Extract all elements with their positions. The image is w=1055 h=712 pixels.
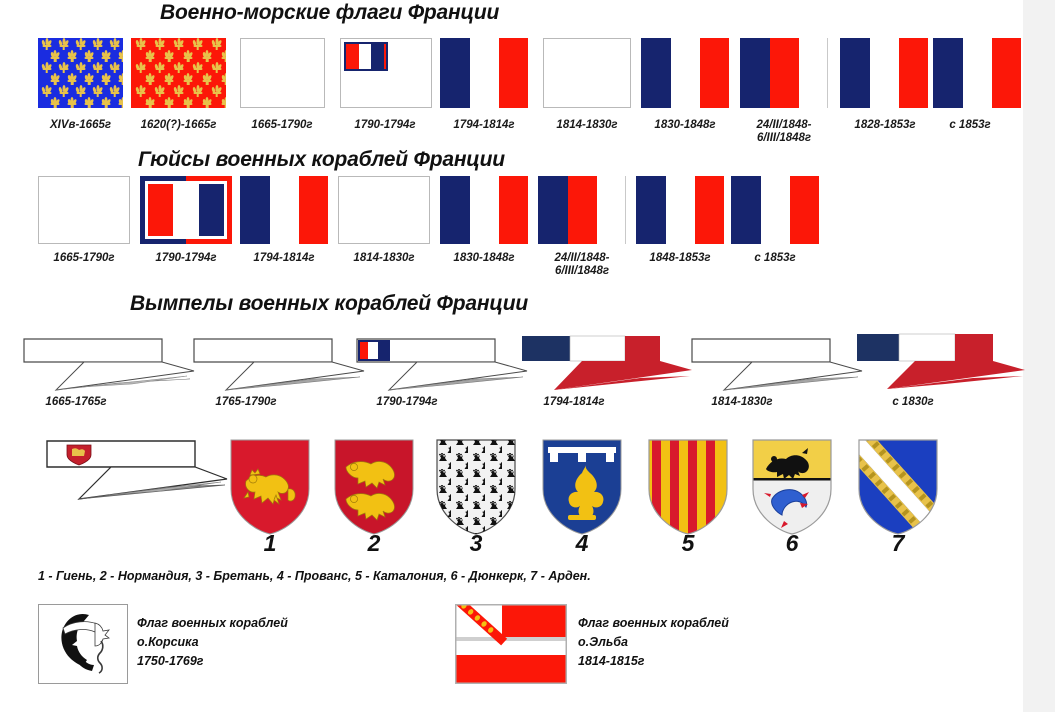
flag-label-ensign-6: 1814-1830г bbox=[533, 119, 641, 132]
fleur-de-lis-icon bbox=[102, 97, 111, 108]
pennant-6 bbox=[855, 330, 1035, 392]
pennant-label-5: 1814-1830г bbox=[688, 396, 796, 409]
fleur-de-lis-icon bbox=[119, 97, 124, 108]
fleur-de-lis-pattern-icon bbox=[131, 38, 226, 108]
fleur-de-lis-icon bbox=[222, 73, 227, 84]
elba-line-3: 1814-1815г bbox=[578, 652, 729, 671]
shield-number-3: 3 bbox=[434, 530, 518, 557]
pennant-label-3: 1790-1794г bbox=[353, 396, 461, 409]
fleur-de-lis-icon bbox=[93, 62, 102, 73]
fleur-de-lis-icon bbox=[51, 50, 60, 61]
flag-corsica bbox=[38, 604, 128, 684]
fleur-de-lis-icon bbox=[59, 38, 68, 49]
fleur-de-lis-icon bbox=[85, 73, 94, 84]
shield-number-6: 6 bbox=[750, 530, 834, 557]
shield-number-5: 5 bbox=[646, 530, 730, 557]
fleur-de-lis-icon bbox=[76, 62, 85, 73]
flag-label-ensign-2: 1620(?)-1665г bbox=[121, 119, 236, 132]
shield-6-dunkirk bbox=[750, 437, 834, 537]
shield-1-guyenne bbox=[228, 437, 312, 537]
flag-label-jack-7: 1848-1853г bbox=[626, 252, 734, 265]
shield-7-ardennes bbox=[856, 437, 940, 537]
flag-label-ensign-5: 1794-1814г bbox=[429, 119, 539, 132]
fleur-de-lis-icon bbox=[68, 97, 77, 108]
flag-label-jack-4: 1814-1830г bbox=[330, 252, 438, 265]
flag-label-jack-2: 1790-1794г bbox=[132, 252, 240, 265]
fleur-de-lis-icon bbox=[85, 50, 94, 61]
flag-jack-2 bbox=[140, 176, 232, 244]
fleur-de-lis-icon bbox=[110, 62, 119, 73]
flag-ensign-10 bbox=[933, 38, 1021, 108]
fleur-de-lis-icon bbox=[51, 73, 60, 84]
corsica-line-3: 1750-1769г bbox=[137, 652, 288, 671]
elba-caption: Флаг военных кораблей о.Эльба 1814-1815г bbox=[578, 614, 729, 671]
flag-label-jack-8: с 1853г bbox=[735, 252, 815, 265]
pennant-3 bbox=[355, 335, 530, 393]
pennant-5 bbox=[690, 335, 865, 393]
flag-label-ensign-3: 1665-1790г bbox=[228, 119, 336, 132]
shield-4-provence bbox=[540, 437, 624, 537]
fleur-de-lis-icon bbox=[110, 85, 119, 96]
corsica-line-2: о.Корсика bbox=[137, 633, 288, 652]
flag-label-ensign-8: 24/II/1848- 6/III/1848г bbox=[730, 119, 838, 145]
flag-ensign-5 bbox=[440, 38, 528, 108]
shield-2-normandy bbox=[332, 437, 416, 537]
fleur-de-lis-icon bbox=[146, 50, 155, 61]
section-title-pennants: Вымпелы военных кораблей Франции bbox=[130, 292, 528, 316]
pennant-1 bbox=[22, 335, 197, 393]
flag-ensign-7 bbox=[641, 38, 729, 108]
fleur-de-lis-icon bbox=[110, 38, 119, 49]
flag-ensign-9 bbox=[840, 38, 928, 108]
fleur-de-lis-icon bbox=[119, 50, 124, 61]
fleur-de-lis-icon bbox=[119, 73, 124, 84]
flag-elba bbox=[455, 604, 567, 684]
flag-ensign-8 bbox=[740, 38, 828, 108]
fleur-de-lis-icon bbox=[165, 73, 174, 84]
fleur-de-lis-icon bbox=[174, 38, 183, 49]
fleur-de-lis-icon bbox=[222, 50, 227, 61]
fleur-de-lis-icon bbox=[184, 73, 193, 84]
flag-label-ensign-4: 1790-1794г bbox=[329, 119, 441, 132]
fleur-de-lis-icon bbox=[174, 62, 183, 73]
fleur-de-lis-icon bbox=[68, 73, 77, 84]
fleur-de-lis-icon bbox=[59, 85, 68, 96]
shields-caption: 1 - Гиень, 2 - Нормандия, 3 - Бретань, 4… bbox=[38, 569, 591, 583]
flag-label-ensign-10: с 1853г bbox=[930, 119, 1010, 132]
fleur-de-lis-icon bbox=[184, 50, 193, 61]
pennant-label-6: с 1830г bbox=[868, 396, 958, 409]
fleur-de-lis-icon bbox=[42, 62, 51, 73]
fleur-de-lis-icon bbox=[102, 50, 111, 61]
flag-jack-1 bbox=[38, 176, 130, 244]
corsica-line-1: Флаг военных кораблей bbox=[137, 614, 288, 633]
fleur-de-lis-icon bbox=[155, 38, 164, 49]
shield-number-7: 7 bbox=[856, 530, 940, 557]
pennant-4 bbox=[520, 332, 700, 394]
fleur-de-lis-icon bbox=[212, 38, 221, 49]
fleur-de-lis-icon bbox=[146, 73, 155, 84]
fleur-de-lis-icon bbox=[203, 73, 212, 84]
fleur-de-lis-icon bbox=[76, 38, 85, 49]
fleur-de-lis-icon bbox=[136, 62, 145, 73]
fleur-de-lis-icon bbox=[155, 85, 164, 96]
fleur-de-lis-icon bbox=[193, 38, 202, 49]
fleur-de-lis-icon bbox=[59, 62, 68, 73]
flag-ensign-4 bbox=[340, 38, 432, 108]
flag-jack-5 bbox=[440, 176, 528, 244]
fleur-de-lis-icon bbox=[193, 62, 202, 73]
flag-label-jack-1: 1665-1790г bbox=[30, 252, 138, 265]
fleur-de-lis-pattern-icon bbox=[38, 38, 123, 108]
shield-number-4: 4 bbox=[540, 530, 624, 557]
shield-number-1: 1 bbox=[228, 530, 312, 557]
flag-label-jack-3: 1794-1814г bbox=[230, 252, 338, 265]
fleur-de-lis-icon bbox=[212, 62, 221, 73]
fleur-de-lis-icon bbox=[76, 85, 85, 96]
fleur-de-lis-icon bbox=[165, 97, 174, 108]
flag-label-ensign-9: 1828-1853г bbox=[831, 119, 939, 132]
shield-5-catalonia bbox=[646, 437, 730, 537]
fleur-de-lis-icon bbox=[42, 38, 51, 49]
fleur-de-lis-icon bbox=[212, 85, 221, 96]
pennant-label-4: 1794-1814г bbox=[520, 396, 628, 409]
fleur-de-lis-icon bbox=[68, 50, 77, 61]
corsica-caption: Флаг военных кораблей о.Корсика 1750-176… bbox=[137, 614, 288, 671]
flag-jack-6 bbox=[538, 176, 626, 244]
shield-number-2: 2 bbox=[332, 530, 416, 557]
fleur-de-lis-icon bbox=[85, 97, 94, 108]
canton-tricolor bbox=[344, 42, 388, 71]
elba-line-1: Флаг военных кораблей bbox=[578, 614, 729, 633]
fleur-de-lis-icon bbox=[155, 62, 164, 73]
pennant-with-arms bbox=[45, 437, 230, 505]
fleur-de-lis-icon bbox=[136, 38, 145, 49]
fleur-de-lis-icon bbox=[184, 97, 193, 108]
shield-3-brittany bbox=[434, 437, 518, 537]
fleur-de-lis-icon bbox=[193, 85, 202, 96]
pennant-label-1: 1665-1765г bbox=[22, 396, 130, 409]
fleur-de-lis-icon bbox=[165, 50, 174, 61]
section-title-jacks: Гюйсы военных кораблей Франции bbox=[138, 148, 505, 172]
fleur-de-lis-icon bbox=[102, 73, 111, 84]
flag-label-jack-5: 1830-1848г bbox=[430, 252, 538, 265]
flag-jack-7 bbox=[636, 176, 724, 244]
fleur-de-lis-icon bbox=[136, 85, 145, 96]
poster-page: Военно-морские флаги Франции XIVв-1665г … bbox=[0, 0, 1023, 712]
fleur-de-lis-icon bbox=[203, 50, 212, 61]
fleur-de-lis-icon bbox=[146, 97, 155, 108]
section-title-ensigns: Военно-морские флаги Франции bbox=[160, 1, 499, 25]
fleur-de-lis-icon bbox=[51, 97, 60, 108]
flag-jack-4 bbox=[338, 176, 430, 244]
flag-ensign-3 bbox=[240, 38, 325, 108]
flag-ensign-1 bbox=[38, 38, 123, 108]
flag-ensign-2 bbox=[131, 38, 226, 108]
flag-jack-3 bbox=[240, 176, 328, 244]
fleur-de-lis-icon bbox=[93, 38, 102, 49]
flag-label-jack-6: 24/II/1848- 6/III/1848г bbox=[528, 252, 636, 278]
flag-ensign-6 bbox=[543, 38, 631, 108]
fleur-de-lis-icon bbox=[42, 85, 51, 96]
flag-label-ensign-7: 1830-1848г bbox=[631, 119, 739, 132]
pennant-label-2: 1765-1790г bbox=[192, 396, 300, 409]
fleur-de-lis-icon bbox=[222, 97, 227, 108]
fleur-de-lis-icon bbox=[174, 85, 183, 96]
pennant-2 bbox=[192, 335, 367, 393]
flag-jack-8 bbox=[731, 176, 819, 244]
fleur-de-lis-icon bbox=[203, 97, 212, 108]
fleur-de-lis-icon bbox=[93, 85, 102, 96]
elba-line-2: о.Эльба bbox=[578, 633, 729, 652]
